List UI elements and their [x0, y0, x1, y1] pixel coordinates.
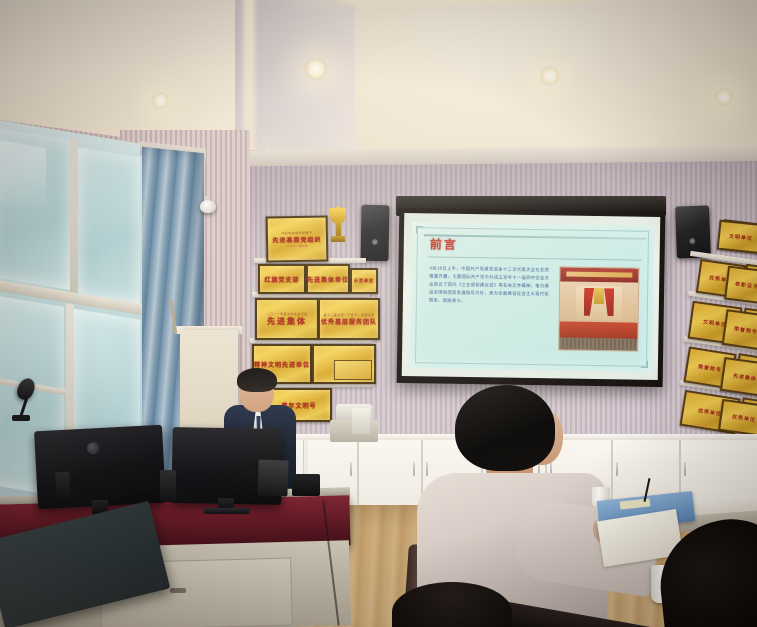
award-plaque: 荣誉称号	[722, 309, 757, 351]
downlight-icon	[540, 66, 560, 86]
award-plaque: 表彰	[312, 344, 376, 384]
dell-logo-icon	[87, 442, 100, 455]
desk-device	[160, 470, 176, 502]
award-plaque: 二〇二一年度全市先进评选 先进集体	[255, 298, 319, 340]
presentation-slide: 前言 4月18日上午，中国共产党建党迎来十二次代表大会在北京隆重开幕。主题国际共…	[410, 222, 654, 372]
award-plaque: 示范单位	[350, 268, 378, 294]
attendee-hair	[455, 385, 555, 471]
window-glare	[0, 140, 46, 212]
desk-device	[257, 459, 288, 496]
photo-banner-text	[566, 272, 632, 278]
downlight-icon	[152, 92, 169, 109]
award-plaque: 先进集体	[720, 357, 757, 397]
slide-photo	[558, 266, 639, 351]
window-pane	[78, 147, 140, 303]
award-plaque: 表彰证书	[724, 266, 757, 305]
award-plaque: 文明单位	[717, 220, 757, 255]
downlight-icon	[305, 58, 327, 80]
slide-title: 前言	[430, 235, 458, 252]
cabinet-handle[interactable]	[684, 462, 686, 476]
trophy-base	[331, 236, 345, 242]
photo-audience	[559, 337, 637, 350]
downlight-icon	[715, 88, 733, 106]
conference-room-photo: 中共中央组织部授予 先进基层党组织 二〇二一年七月 红旗党支部 先进集体单位 示…	[0, 0, 757, 627]
slide-body-text: 4月18日上午，中国共产党建党迎来十二次代表大会在北京隆重开幕。主题国际共产党中…	[429, 264, 550, 306]
award-plaque: 中共中央组织部授予 先进基层党组织 二〇二一年七月	[266, 215, 329, 262]
plaque-inset	[334, 360, 372, 380]
award-plaque: 先进集体单位	[306, 264, 350, 294]
slide-corner-mark	[416, 226, 423, 233]
award-plaque: 红旗党支部	[258, 264, 306, 294]
cabinet-handle[interactable]	[413, 462, 415, 476]
window-mullion	[70, 138, 78, 301]
counter-container	[352, 408, 370, 434]
award-plaque: 第十三届全国「十百千」评选表彰 优秀基层服务团队	[318, 298, 380, 340]
cabinet-handle[interactable]	[350, 462, 352, 476]
console-desk-handle[interactable]	[170, 588, 186, 593]
dome-security-camera-icon	[200, 200, 216, 213]
gold-trophy-icon	[330, 208, 346, 224]
presenter-hair	[237, 368, 277, 392]
photo-emblem	[594, 288, 604, 304]
monitor-base	[204, 508, 250, 514]
dell-monitor-left[interactable]	[34, 425, 166, 510]
award-plaque: 优秀单位	[718, 399, 757, 437]
slide-corner-mark	[641, 361, 648, 368]
desk-device	[55, 472, 71, 501]
wall-speaker-left	[361, 205, 390, 261]
desk-device	[292, 474, 320, 496]
